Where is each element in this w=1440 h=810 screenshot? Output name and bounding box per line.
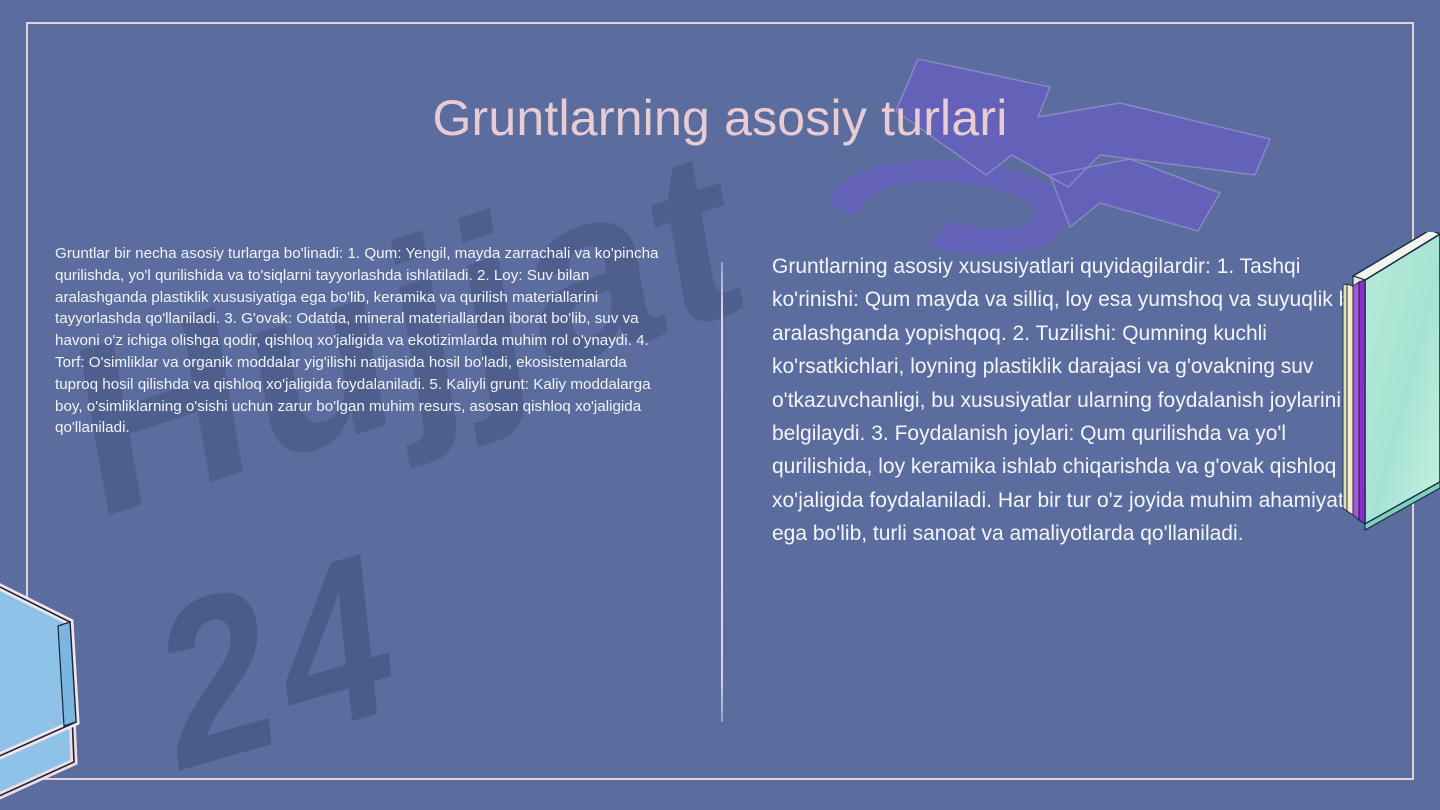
hexagon-shapes	[0, 580, 210, 810]
column-divider	[721, 262, 723, 722]
right-body-text: Gruntlarning asosiy xususiyatlari quyida…	[772, 250, 1388, 551]
left-body-text: Gruntlar bir necha asosiy turlarga bo'li…	[55, 243, 663, 439]
presentation-slide: Hujjat 24 Gruntlarning asosiy turlari Gr…	[0, 0, 1440, 810]
background-watermark-text-secondary: 24	[150, 493, 411, 810]
page-title: Gruntlarning asosiy turlari	[120, 90, 1320, 148]
